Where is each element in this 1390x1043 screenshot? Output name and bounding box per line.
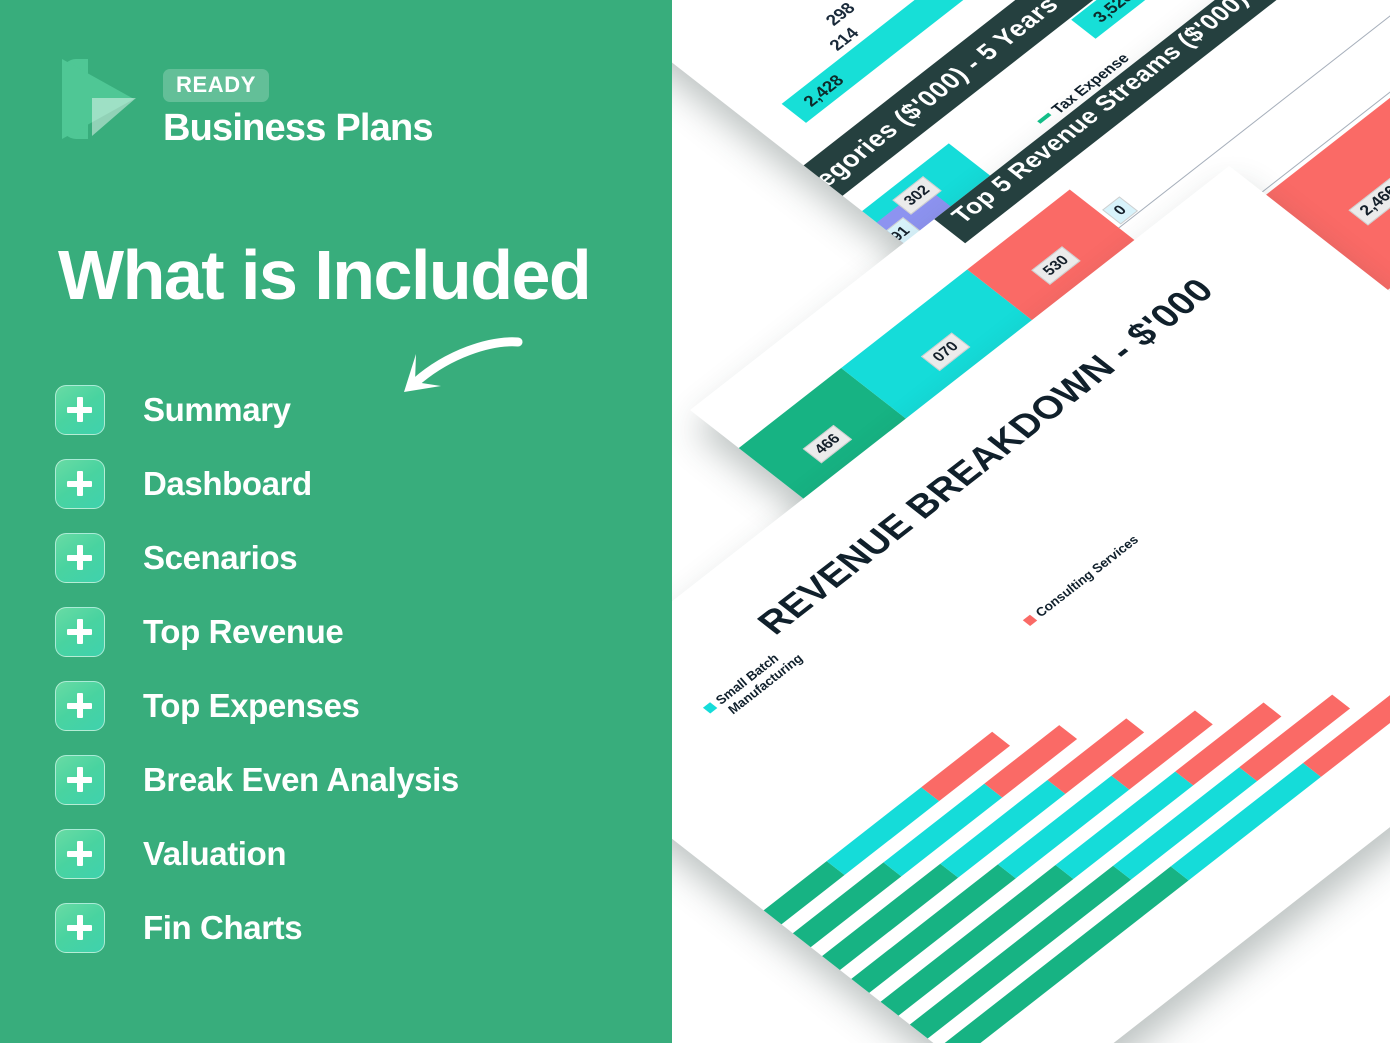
legend-swatch-cyan xyxy=(703,702,717,713)
logo-inner-triangle xyxy=(92,98,136,136)
legend-swatch-green xyxy=(1037,113,1051,124)
page-title: What is Included xyxy=(58,240,590,310)
plus-icon xyxy=(55,755,105,805)
legend-swatch-red xyxy=(1023,615,1037,626)
play-triangle-icon xyxy=(62,57,142,140)
feature-item-scenarios[interactable]: Scenarios xyxy=(55,533,655,583)
plus-icon xyxy=(55,459,105,509)
ready-badge: READY xyxy=(163,69,269,102)
feature-label: Scenarios xyxy=(143,539,297,577)
plus-icon xyxy=(55,607,105,657)
plus-icon xyxy=(55,903,105,953)
feature-item-dashboard[interactable]: Dashboard xyxy=(55,459,655,509)
axis-tick-month: Jan-27 xyxy=(744,1004,799,1043)
axis-tick-month: Mar-27 xyxy=(834,1024,889,1043)
feature-list: Summary Dashboard Scenarios Top Revenue … xyxy=(55,385,655,953)
feature-item-top-revenue[interactable]: Top Revenue xyxy=(55,607,655,657)
legend-item-consulting-svcs: Consulting Services xyxy=(1020,533,1142,628)
feature-label: Top Revenue xyxy=(143,613,343,651)
cell-value: 298 xyxy=(822,0,861,30)
feature-item-fin-charts[interactable]: Fin Charts xyxy=(55,903,655,953)
feature-item-top-expenses[interactable]: Top Expenses xyxy=(55,681,655,731)
plus-icon xyxy=(55,533,105,583)
left-green-panel: READY Business Plans What is Included Su… xyxy=(0,0,672,1043)
feature-label: Fin Charts xyxy=(143,909,302,947)
brand-name: Business Plans xyxy=(163,107,433,150)
feature-label: Summary xyxy=(143,391,291,429)
brand-logo: READY Business Plans xyxy=(62,57,433,150)
feature-label: Valuation xyxy=(143,835,286,873)
feature-item-summary[interactable]: Summary xyxy=(55,385,655,435)
feature-label: Break Even Analysis xyxy=(143,761,459,799)
plus-icon xyxy=(55,829,105,879)
axis-tick-month: Feb-27 xyxy=(789,1014,844,1043)
feature-label: Dashboard xyxy=(143,465,312,503)
legend-label: Consulting Services xyxy=(1031,533,1142,619)
feature-label: Top Expenses xyxy=(143,687,359,725)
plus-icon xyxy=(55,681,105,731)
plus-icon xyxy=(55,385,105,435)
feature-item-valuation[interactable]: Valuation xyxy=(55,829,655,879)
brand-text: READY Business Plans xyxy=(163,57,433,150)
feature-item-break-even-analysis[interactable]: Break Even Analysis xyxy=(55,755,655,805)
